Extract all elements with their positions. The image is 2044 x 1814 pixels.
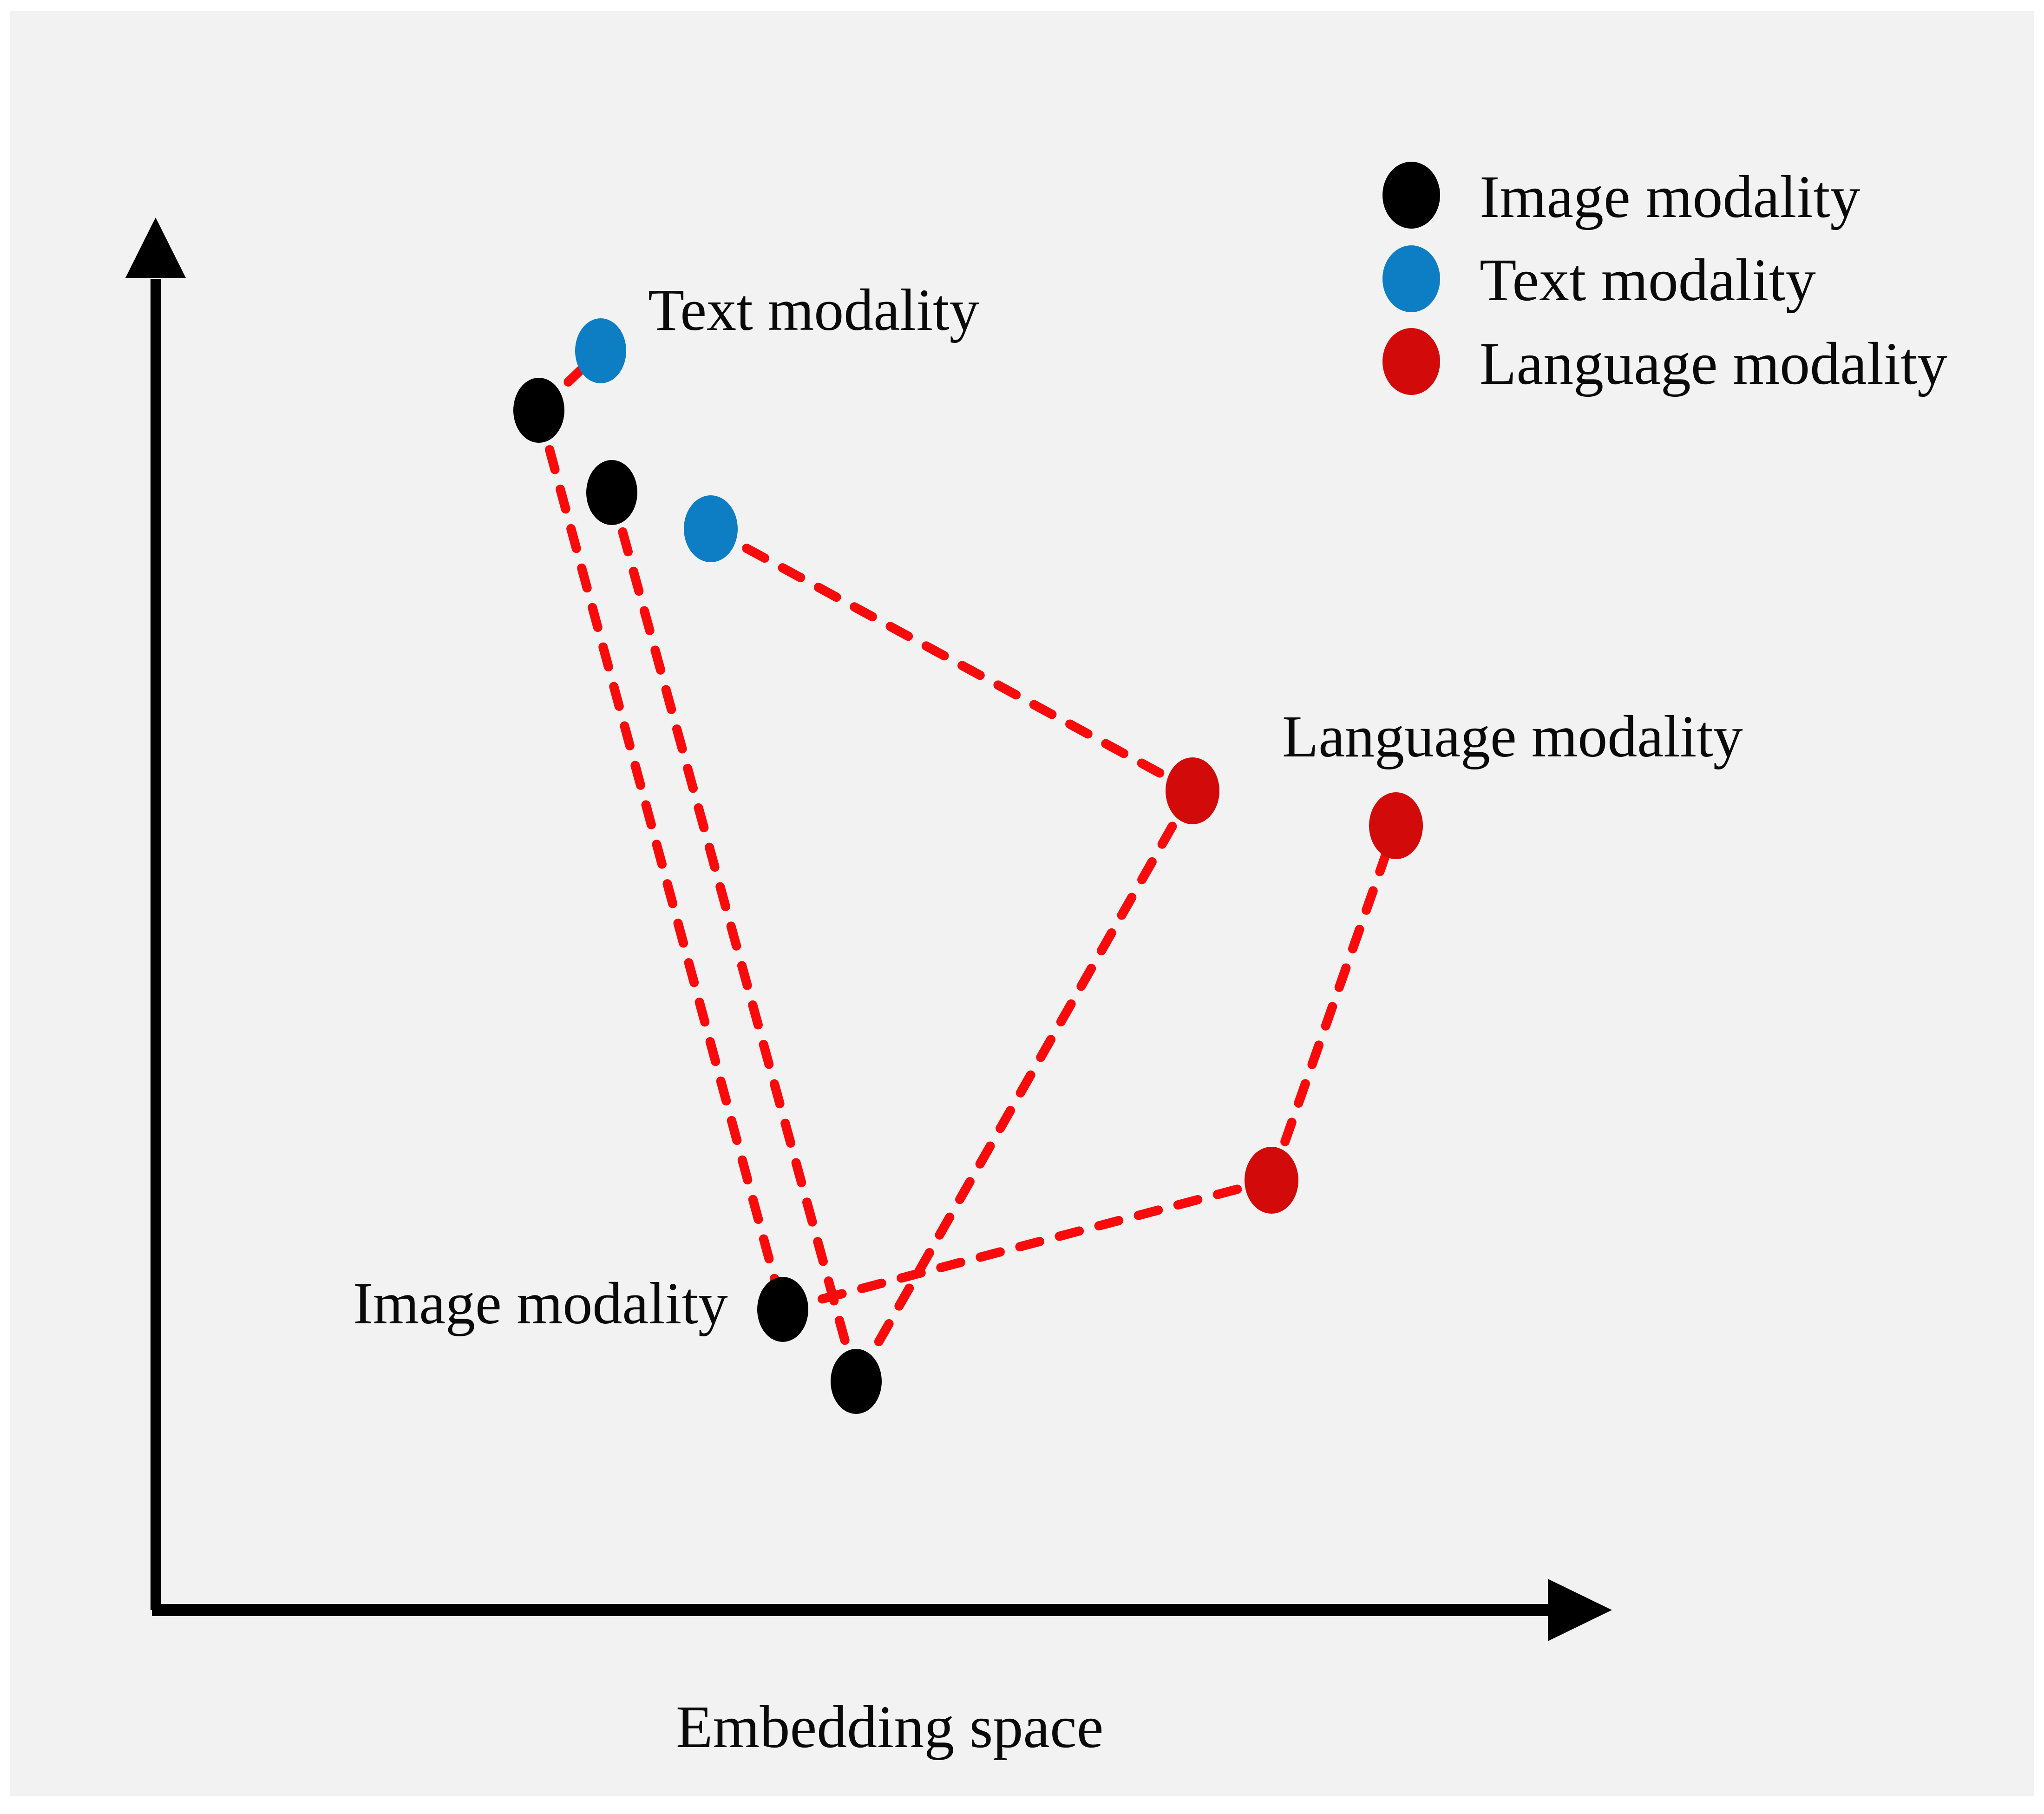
data-points-group (513, 318, 1423, 1414)
legend-item-text-modality[interactable]: Text modality (1382, 245, 1816, 314)
legend-marker-language-modality (1382, 328, 1440, 395)
legend-item-image-modality[interactable]: Image modality (1382, 162, 1860, 230)
legend-label-image-modality: Image modality (1480, 164, 1860, 230)
annotation-text-modality: Text modality (648, 277, 979, 343)
connector-img3-lng3 (783, 1180, 1271, 1309)
connector-lng3-lng2 (1271, 826, 1396, 1180)
legend-marker-text-modality (1382, 245, 1440, 312)
data-point-image-modality[interactable] (513, 378, 564, 443)
data-point-image-modality[interactable] (586, 460, 637, 525)
data-point-text-modality[interactable] (684, 495, 738, 562)
data-point-text-modality[interactable] (575, 318, 626, 383)
embedding-space-scatter-plot: Text modality Language modality Image mo… (0, 0, 2044, 1814)
data-point-language-modality[interactable] (1166, 757, 1219, 824)
connector-img2-img4 (612, 493, 856, 1381)
legend: Image modality Text modality Language mo… (1382, 162, 1947, 397)
connector-lines-group (539, 351, 1396, 1381)
axes-group (125, 217, 1612, 1641)
figure-canvas: Text modality Language modality Image mo… (0, 0, 2044, 1814)
data-point-language-modality[interactable] (1245, 1147, 1298, 1214)
legend-marker-image-modality (1382, 162, 1440, 229)
connector-lng1-img4 (856, 791, 1192, 1381)
x-axis-arrow-right-icon (1548, 1579, 1612, 1641)
legend-label-text-modality: Text modality (1480, 247, 1816, 314)
data-point-image-modality[interactable] (757, 1277, 808, 1342)
data-point-language-modality[interactable] (1369, 792, 1423, 859)
data-point-image-modality[interactable] (831, 1349, 882, 1414)
y-axis-arrow-up-icon (125, 217, 186, 278)
x-axis-label: Embedding space (676, 1694, 1104, 1761)
annotation-image-modality: Image modality (353, 1270, 728, 1336)
legend-item-language-modality[interactable]: Language modality (1382, 328, 1947, 397)
legend-label-language-modality: Language modality (1480, 330, 1947, 397)
connector-txt2-lng1 (711, 529, 1192, 791)
plot-annotations-group: Text modality Language modality Image mo… (353, 277, 1743, 1336)
annotation-language-modality: Language modality (1282, 703, 1743, 769)
